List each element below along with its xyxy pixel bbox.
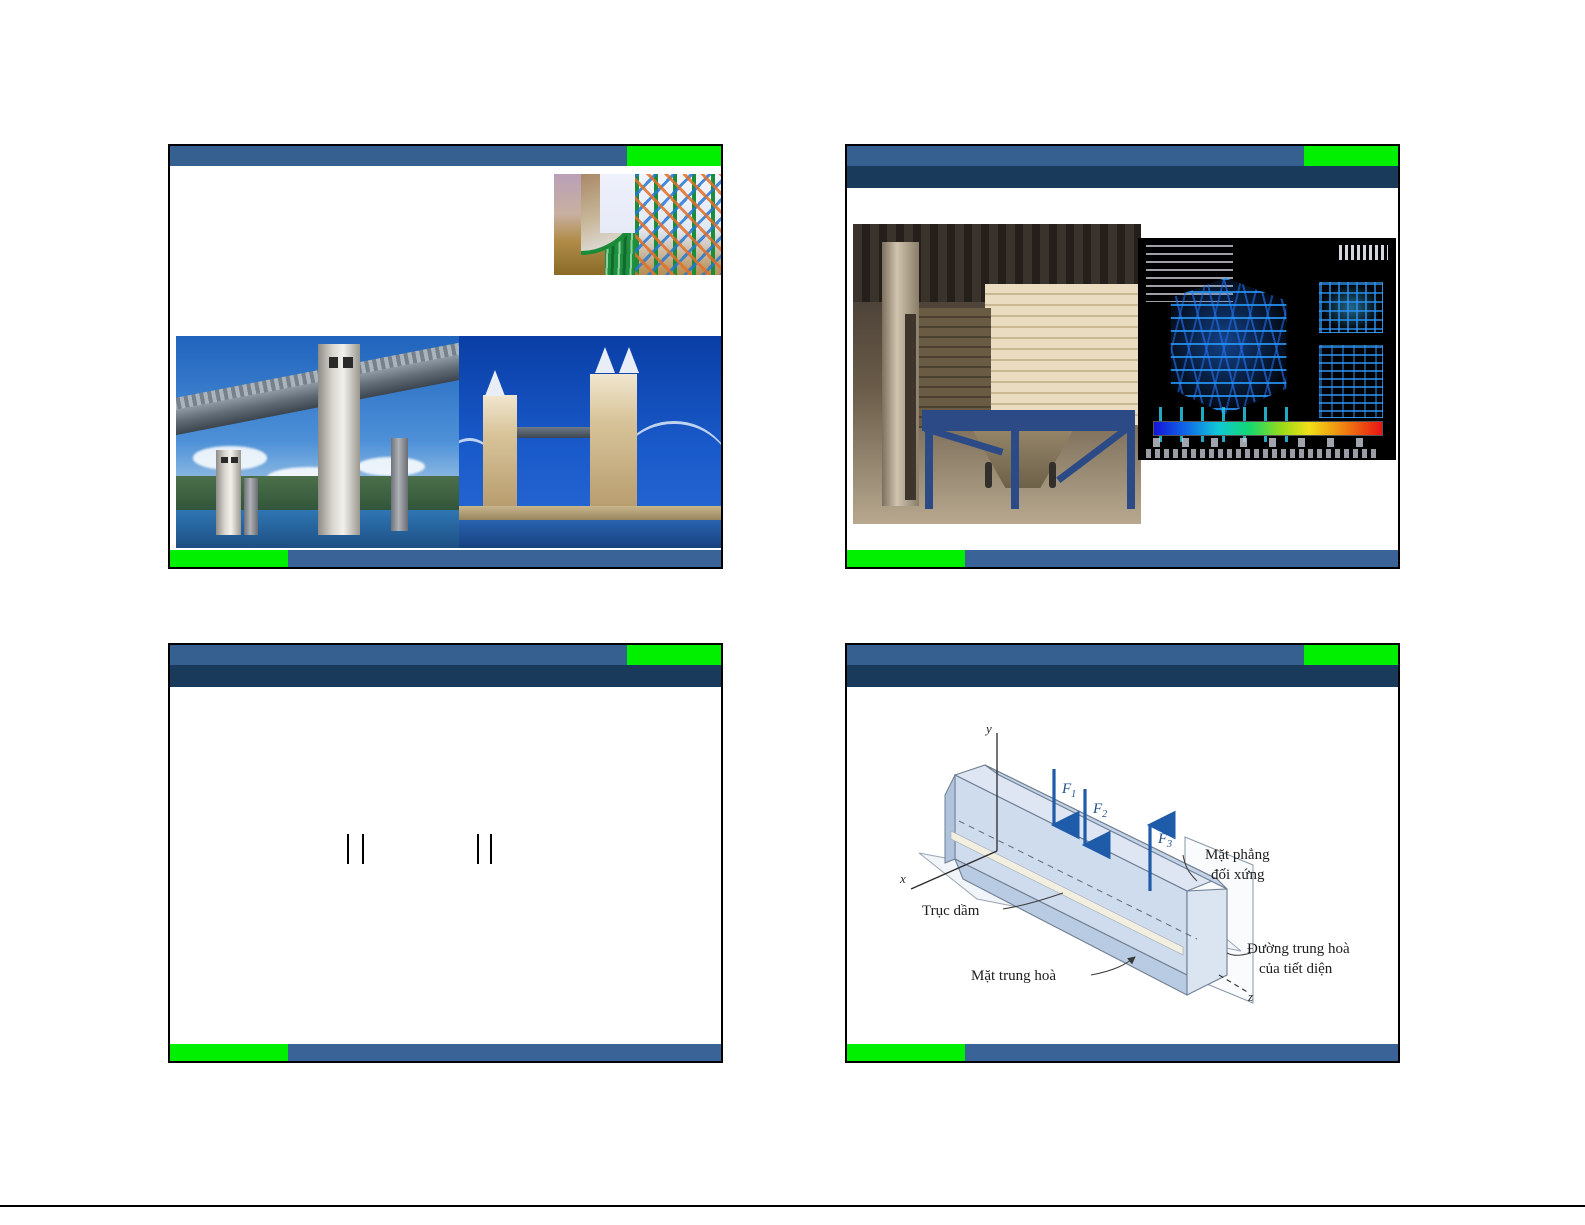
- slide-3-title-bar: [170, 665, 721, 687]
- ansys-legend-tick-labels: [1153, 438, 1380, 447]
- slide-2-header-blue: [847, 146, 1304, 166]
- slide-3-footer-green-accent: [170, 1044, 288, 1061]
- slide-4-footer-bar: [847, 1044, 1398, 1061]
- x-axis-label: x: [899, 871, 906, 886]
- ansys-fea-results-screen: [1138, 238, 1396, 460]
- tower-window-right: [343, 357, 353, 368]
- slide-3-footer-bar: [170, 1044, 721, 1061]
- slide-4-header-blue: [847, 645, 1304, 665]
- north-tower-spire: [485, 370, 505, 396]
- z-axis-label: z: [1247, 989, 1253, 1004]
- slide-4-footer-blue: [965, 1044, 1398, 1061]
- south-tower-spire-left: [595, 347, 615, 373]
- page-bottom-rule: [0, 1205, 1585, 1207]
- slide-3[interactable]: [168, 643, 723, 1063]
- bridge-pier-2: [391, 438, 408, 531]
- far-tower-window-right: [231, 457, 238, 463]
- force-f1-label: F1: [1061, 781, 1076, 800]
- slide-1-footer-blue: [288, 550, 721, 567]
- ansys-logo: [1339, 245, 1388, 261]
- beam-web-front-face: [955, 775, 1187, 975]
- workshop-floor: [853, 482, 1141, 524]
- bridge-pier-1: [244, 478, 258, 535]
- slide-4[interactable]: y x z F1 F2 F3: [845, 643, 1400, 1063]
- beam-left-end-face: [945, 775, 955, 863]
- slide-4-header-bar: [847, 645, 1398, 665]
- handout-page: y x z F1 F2 F3: [0, 0, 1585, 1225]
- slide-1-footer-bar: [170, 550, 721, 567]
- vertical-bar-2: [362, 834, 364, 864]
- vertical-bar-1: [347, 834, 349, 864]
- tower-bridge-north-tower: [483, 395, 517, 505]
- ansys-frame-model-wireframe: [1153, 278, 1297, 420]
- vertical-bar-4: [490, 834, 492, 864]
- slide-1-footer-green-accent: [170, 550, 288, 567]
- beam-axis-label: Trục dầm: [922, 903, 980, 919]
- ansys-plan-view: [1319, 282, 1383, 333]
- discharge-pipe: [905, 314, 917, 500]
- slide-2-footer-green-accent: [847, 550, 965, 567]
- slide-4-header-green-accent: [1304, 645, 1398, 665]
- slide-2-footer-blue: [965, 550, 1398, 567]
- slide-3-header-bar: [170, 645, 721, 665]
- beam-neutral-surface-diagram: y x z F1 F2 F3: [867, 703, 1382, 1023]
- south-tower-spire-right: [619, 347, 639, 373]
- tower-bridge-london-photo: [459, 336, 721, 548]
- ansys-contour-legend-bar: [1153, 421, 1382, 435]
- slide-3-footer-blue: [288, 1044, 721, 1061]
- person-silhouette-left: [985, 462, 992, 488]
- slide-3-header-blue: [170, 645, 627, 665]
- section-neutral-axis-label-line2: của tiết diện: [1259, 961, 1333, 977]
- section-neutral-axis-label-line1: Đường trung hoà: [1247, 941, 1350, 957]
- slide-1[interactable]: [168, 144, 723, 569]
- timber-silo-bin: [985, 284, 1141, 425]
- river-thames: [459, 520, 721, 548]
- slide-1-header-green-accent: [627, 146, 721, 166]
- slide-4-footer-green-accent: [847, 1044, 965, 1061]
- bridge-main-tower: [318, 344, 360, 535]
- slide-2-title-bar: [847, 166, 1398, 188]
- fea-thumb-truss-mesh: [635, 174, 723, 275]
- tower-bridge-south-tower: [590, 374, 637, 508]
- plane-of-symmetry-label-line2: đối xứng: [1211, 867, 1265, 883]
- slide-2[interactable]: [845, 144, 1400, 569]
- slide-1-header-blue: [170, 146, 627, 166]
- slide-4-title-bar: [847, 665, 1398, 687]
- y-axis-label: y: [984, 721, 992, 736]
- slide-2-footer-bar: [847, 550, 1398, 567]
- far-tower-window-left: [221, 457, 228, 463]
- neutral-surface-label: Mặt trung hoà: [971, 968, 1056, 984]
- slide-1-header-bar: [170, 146, 721, 166]
- slide-3-header-green-accent: [627, 645, 721, 665]
- ansys-elevation-view: [1319, 345, 1383, 418]
- force-f2-label: F2: [1092, 801, 1107, 820]
- slide-2-header-green-accent: [1304, 146, 1398, 166]
- blue-steel-support-beam: [922, 410, 1135, 431]
- force-f3-label: F3: [1157, 831, 1172, 850]
- ansys-caption-text: [1146, 449, 1378, 458]
- slide-2-header-bar: [847, 146, 1398, 166]
- britannia-box-girder-bridge-photo: [176, 336, 459, 548]
- plane-of-symmetry-label-line1: Mặt phẳng: [1205, 847, 1270, 863]
- steel-silo-hopper-photo: [853, 224, 1141, 524]
- vertical-bar-3: [477, 834, 479, 864]
- fea-structure-thumbnail: [554, 174, 723, 275]
- tower-window-left: [329, 357, 339, 368]
- person-silhouette-right: [1049, 462, 1056, 488]
- bridge-far-tower: [216, 450, 241, 535]
